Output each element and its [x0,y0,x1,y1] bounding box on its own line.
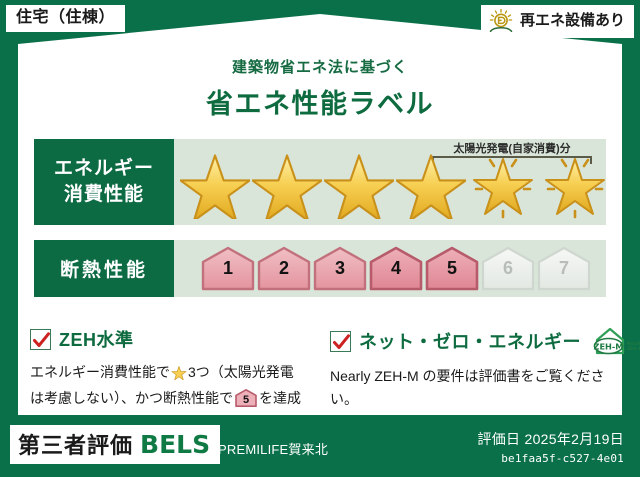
title-block: 建築物省エネ法に基づく 省エネ性能ラベル [0,56,640,121]
inline-grade-value: 5 [235,391,257,409]
energy-label-line2: 消費性能 [64,182,144,208]
insulation-grade-7: 7 [537,246,591,291]
energy-rating-panel: 太陽光発電(自家消費)分 [174,139,606,225]
insulation-grade-2-value: 2 [257,259,311,277]
svg-text:ZEH-M: ZEH-M [594,341,624,351]
sun-renewable-icon [487,8,515,34]
net-zero-energy-title: ネット・ゼロ・エネルギー [359,328,581,354]
insulation-grade-1-value: 1 [201,259,255,277]
page-title: 省エネ性能ラベル [0,82,640,121]
inline-grade-house-icon: 5 [235,389,257,407]
renewable-badge-label: 再エネ設備あり [520,13,625,30]
energy-performance-label: エネルギー 消費性能 [34,139,174,225]
energy-star-3 [324,145,394,219]
insulation-performance-row: 断熱性能 1 2 [34,240,606,297]
check-icon [32,331,51,350]
net-zero-energy-checkbox[interactable] [330,331,351,352]
insulation-performance-label: 断熱性能 [34,240,174,297]
insulation-grade-2: 2 [257,246,311,291]
insulation-grade-6: 6 [481,246,535,291]
evaluation-date: 評価日 2025年2月19日 [477,429,624,449]
svg-text:ZEH-M: ZEH-M [627,346,640,352]
property-name: PREMILIFE賀来北 [218,439,328,458]
zeh-standard-title: ZEH水準 [59,326,134,352]
insulation-grade-6-value: 6 [481,259,535,277]
evaluation-id: be1faa5f-c527-4e01 [477,452,624,465]
inline-star-icon [171,364,187,387]
net-zero-energy-description: Nearly ZEH-M の要件は評価書をご覧ください。 [330,365,620,411]
evaluation-meta: 評価日 2025年2月19日 be1faa5f-c527-4e01 [477,429,624,465]
check-icon [332,333,351,352]
net-zero-energy-header: ネット・ゼロ・エネルギー ZEH-M Nearly ZEH-M [330,326,620,356]
insulation-grade-4: 4 [369,246,423,291]
zeh-standard-description: エネルギー消費性能で3つ（太陽光発電は考慮しない）、かつ断熱性能で5を達成 [30,361,330,410]
zeh-desc-part3: を達成 [259,390,301,406]
title-subtitle: 建築物省エネ法に基づく [0,56,640,77]
insulation-grade-4-value: 4 [369,259,423,277]
insulation-grade-5-value: 5 [425,259,479,277]
zeh-standard-block: ZEH水準 エネルギー消費性能で3つ（太陽光発電は考慮しない）、かつ断熱性能で5… [30,326,330,410]
energy-star-rating [180,145,610,219]
insulation-grade-5: 5 [425,246,479,291]
zeh-desc-part1: エネルギー消費性能で [30,364,170,380]
insulation-grade-3-value: 3 [313,259,367,277]
zeh-standard-header: ZEH水準 [30,326,330,352]
zeh-standard-checkbox[interactable] [30,329,51,350]
zeh-desc-starcount: 3つ（太陽光発電 [188,364,294,380]
energy-star-5-solar [468,145,538,219]
insulation-grade-1: 1 [201,246,255,291]
energy-performance-row: エネルギー 消費性能 太陽光発電(自家消費)分 [34,139,606,225]
bels-third-party-badge: 第三者評価 BELS [10,425,220,464]
energy-star-1 [180,145,250,219]
zeh-desc-part2: は考慮しない）、かつ断熱性能で [30,390,233,406]
bels-jp-label: 第三者評価 [18,428,133,460]
insulation-rating-panel: 1 2 3 4 [174,240,606,297]
energy-star-6-solar [540,145,610,219]
insulation-grade-3: 3 [313,246,367,291]
energy-star-2 [252,145,322,219]
house-type-tag: 住宅（住棟） [6,5,125,32]
renewable-equipment-badge: 再エネ設備あり [481,5,634,38]
bels-logo-text: BELS [140,430,210,459]
insulation-grade-7-value: 7 [537,259,591,277]
energy-star-4 [396,145,466,219]
net-zero-energy-block: ネット・ゼロ・エネルギー ZEH-M Nearly ZEH-M Nearly Z… [330,326,620,411]
energy-label-line1: エネルギー [54,156,154,182]
insulation-grade-scale: 1 2 3 4 [201,246,591,291]
zeh-m-logo-icon: ZEH-M Nearly ZEH-M [593,326,640,356]
